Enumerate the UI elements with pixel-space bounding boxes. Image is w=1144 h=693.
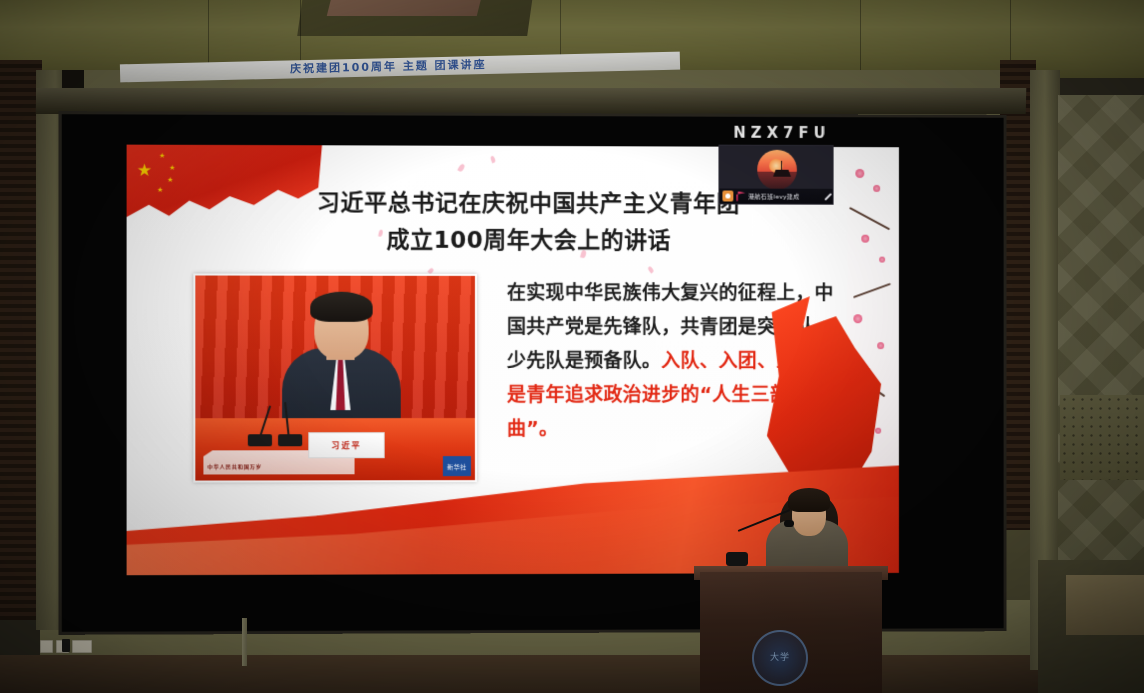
video-overlay-panel[interactable]: 港航石班levy建成 bbox=[718, 145, 833, 205]
overlay-name-bar[interactable]: 港航石班levy建成 bbox=[719, 189, 833, 204]
tiananmen-graphic-text: 中华人民共和国万岁 bbox=[207, 463, 261, 470]
photo-nameplate: 习近平 bbox=[308, 432, 384, 458]
blossom-branch bbox=[853, 283, 891, 298]
ceiling-seam bbox=[860, 0, 861, 78]
slide-title-line2: 成立100周年大会上的讲话 bbox=[248, 222, 808, 260]
screen-support-post bbox=[242, 618, 247, 666]
podium: 大学 bbox=[700, 572, 882, 693]
right-perforated-panel bbox=[1060, 395, 1144, 480]
wall-switch[interactable] bbox=[40, 640, 53, 653]
presenter-hair-front bbox=[788, 488, 830, 512]
blossom-flower bbox=[861, 235, 869, 243]
led-screen: N Z X 7 F U ★ ★ ★ ★ ★ bbox=[59, 111, 1007, 635]
blossom-flower bbox=[877, 342, 884, 349]
watermark-char: F bbox=[798, 124, 809, 142]
blossom-branch bbox=[849, 207, 890, 230]
university-emblem-text: 大学 bbox=[770, 653, 790, 663]
wall-outlet[interactable] bbox=[72, 640, 92, 653]
right-acoustic-panel bbox=[1058, 95, 1144, 575]
user-icon bbox=[722, 191, 733, 202]
blossom-flower bbox=[853, 314, 862, 323]
slide-photo: 中华人民共和国万岁 习近平 新华社 bbox=[193, 273, 477, 482]
screen-display-area: N Z X 7 F U ★ ★ ★ ★ ★ bbox=[62, 114, 1004, 632]
watermark-char: U bbox=[814, 124, 827, 142]
watermark-char: Z bbox=[751, 124, 763, 142]
podium-microphone-head bbox=[784, 520, 794, 527]
screen-watermark: N Z X 7 F U bbox=[718, 122, 841, 144]
floor bbox=[0, 655, 1144, 693]
pencil-icon[interactable] bbox=[823, 192, 832, 201]
photo-agency-logo: 新华社 bbox=[443, 456, 471, 476]
boat-mast bbox=[781, 161, 782, 171]
overlay-avatar bbox=[757, 150, 797, 190]
photo-agency-logo-text: 新华社 bbox=[447, 462, 467, 471]
right-doorway bbox=[1066, 575, 1144, 635]
watermark-char: 7 bbox=[783, 124, 794, 142]
microphone-base bbox=[278, 434, 302, 446]
overlay-participant-name: 港航石班levy建成 bbox=[748, 192, 819, 201]
screen-hood bbox=[36, 88, 1027, 114]
microphone-base bbox=[248, 434, 272, 446]
boat-icon bbox=[773, 170, 791, 177]
flag-star-large: ★ bbox=[137, 163, 152, 180]
flag-star-small: ★ bbox=[159, 153, 165, 160]
falling-petal bbox=[647, 266, 654, 274]
watermark-char: N bbox=[733, 124, 746, 142]
falling-petal bbox=[457, 163, 465, 172]
photo-scene: 庆祝建团100周年 主题 团课讲座 N Z X 7 F U ★ ★ ★ bbox=[0, 0, 1144, 693]
flag-star-small: ★ bbox=[167, 177, 173, 184]
ceiling-recess-inner bbox=[327, 0, 483, 16]
university-emblem: 大学 bbox=[752, 630, 808, 686]
blossom-flower bbox=[873, 185, 880, 192]
blossom-flower bbox=[875, 428, 881, 434]
watermark-char: X bbox=[767, 124, 779, 142]
flag-icon bbox=[736, 191, 745, 201]
person-hair bbox=[310, 292, 372, 322]
podium-microphone-base bbox=[726, 552, 748, 566]
blossom-flower bbox=[855, 169, 864, 178]
blossom-flower bbox=[879, 257, 885, 263]
flag-star-small: ★ bbox=[169, 165, 175, 172]
flag-star-small: ★ bbox=[157, 187, 163, 194]
wall-switch-dark bbox=[62, 639, 70, 652]
photo-nameplate-text: 习近平 bbox=[331, 440, 361, 451]
falling-petal bbox=[490, 155, 496, 163]
